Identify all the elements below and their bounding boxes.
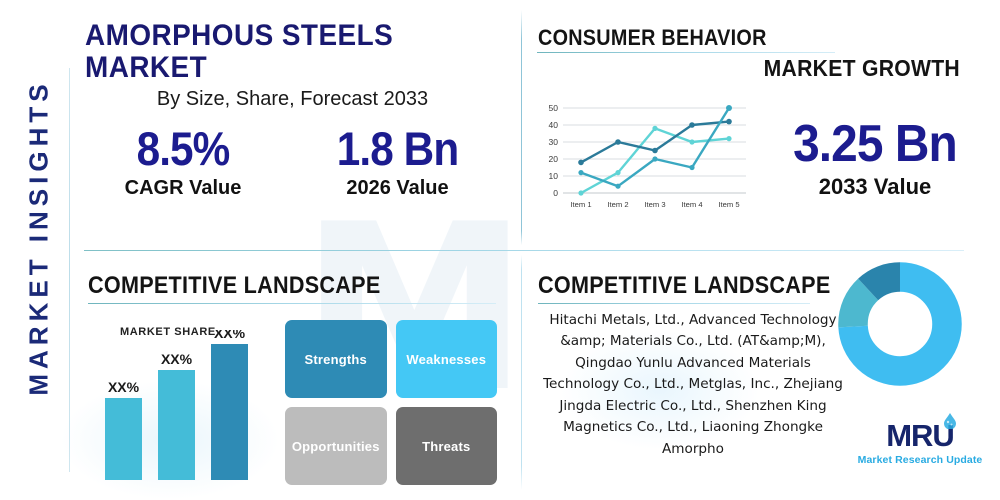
competitive-landscape-right-heading: COMPETITIVE LANDSCAPE <box>538 272 831 300</box>
bar-label-3: XX% <box>214 330 246 341</box>
svg-text:10: 10 <box>549 171 559 181</box>
svg-text:50: 50 <box>549 103 559 113</box>
line-chart-svg: 50 40 30 20 10 0 Item 1 Item 2 Item 3 It… <box>533 100 748 215</box>
logo-tagline: Market Research Update <box>852 454 988 466</box>
bar-1 <box>105 398 142 480</box>
donut-hole <box>870 294 930 354</box>
y-axis-ticks: 50 40 30 20 10 0 <box>549 103 559 198</box>
kpi-2033: 3.25 Bn 2033 Value <box>760 118 990 200</box>
consumer-behavior-line-chart: 50 40 30 20 10 0 Item 1 Item 2 Item 3 It… <box>533 100 748 215</box>
kpi-2033-value: 3.25 Bn <box>769 118 981 170</box>
logo-mark: MRU <box>886 420 954 451</box>
swot-opportunities[interactable]: Opportunities <box>285 407 387 485</box>
market-share-bar-chart: XX% XX% XX% <box>95 330 275 480</box>
kpi-cagr-value: 8.5% <box>95 125 271 172</box>
bar-label-1: XX% <box>108 379 140 395</box>
svg-text:30: 30 <box>549 137 559 147</box>
donut-chart-svg <box>838 262 962 386</box>
svg-text:Item 4: Item 4 <box>681 200 702 209</box>
infographic-canvas: M MARKET INSIGHTS AMORPHOUS STEELS MARKE… <box>0 0 1000 500</box>
svg-text:Item 2: Item 2 <box>607 200 628 209</box>
svg-text:20: 20 <box>549 154 559 164</box>
bar-2 <box>158 370 195 480</box>
bar-label-2: XX% <box>161 351 193 367</box>
kpi-2026: 1.8 Bn 2026 Value <box>295 125 500 200</box>
competitive-left-underline <box>88 303 496 304</box>
left-rail: MARKET INSIGHTS <box>0 0 74 500</box>
swot-strengths[interactable]: Strengths <box>285 320 387 398</box>
horizontal-divider <box>84 250 964 251</box>
key-players-text: Hitachi Metals, Ltd., Advanced Technolog… <box>538 310 848 460</box>
market-growth-heading: MARKET GROWTH <box>592 55 960 82</box>
kpi-2033-label: 2033 Value <box>760 174 990 200</box>
rail-divider <box>69 68 70 472</box>
competitive-landscape-left-heading: COMPETITIVE LANDSCAPE <box>88 272 381 300</box>
bar-3 <box>211 344 248 480</box>
mru-logo: MRU Market Research Update <box>852 420 988 466</box>
market-share-donut-chart <box>838 262 962 386</box>
kpi-cagr: 8.5% CAGR Value <box>85 125 281 200</box>
line-series-2 <box>581 108 729 186</box>
rail-label: MARKET INSIGHTS <box>24 18 55 458</box>
kpi-2026-value: 1.8 Bn <box>305 125 490 172</box>
swot-weaknesses[interactable]: Weaknesses <box>396 320 498 398</box>
bar-chart-svg: XX% XX% XX% <box>95 330 275 480</box>
kpi-2026-label: 2026 Value <box>295 177 500 200</box>
svg-text:Item 1: Item 1 <box>570 200 591 209</box>
consumer-behavior-heading: CONSUMER BEHAVIOR <box>538 25 767 51</box>
svg-text:40: 40 <box>549 120 559 130</box>
svg-text:Item 3: Item 3 <box>644 200 665 209</box>
consumer-behavior-underline <box>537 52 835 53</box>
kpi-cagr-label: CAGR Value <box>85 177 281 200</box>
page-title: AMORPHOUS STEELS MARKET <box>85 20 457 83</box>
water-droplet-icon <box>943 413 957 429</box>
page-subtitle: By Size, Share, Forecast 2033 <box>85 88 500 111</box>
competitive-right-underline <box>538 303 810 304</box>
swot-grid: Strengths Weaknesses Opportunities Threa… <box>285 320 497 485</box>
swot-threats[interactable]: Threats <box>396 407 498 485</box>
svg-text:0: 0 <box>553 188 558 198</box>
svg-text:Item 5: Item 5 <box>718 200 739 209</box>
x-axis-ticks: Item 1 Item 2 Item 3 Item 4 Item 5 <box>570 200 739 209</box>
